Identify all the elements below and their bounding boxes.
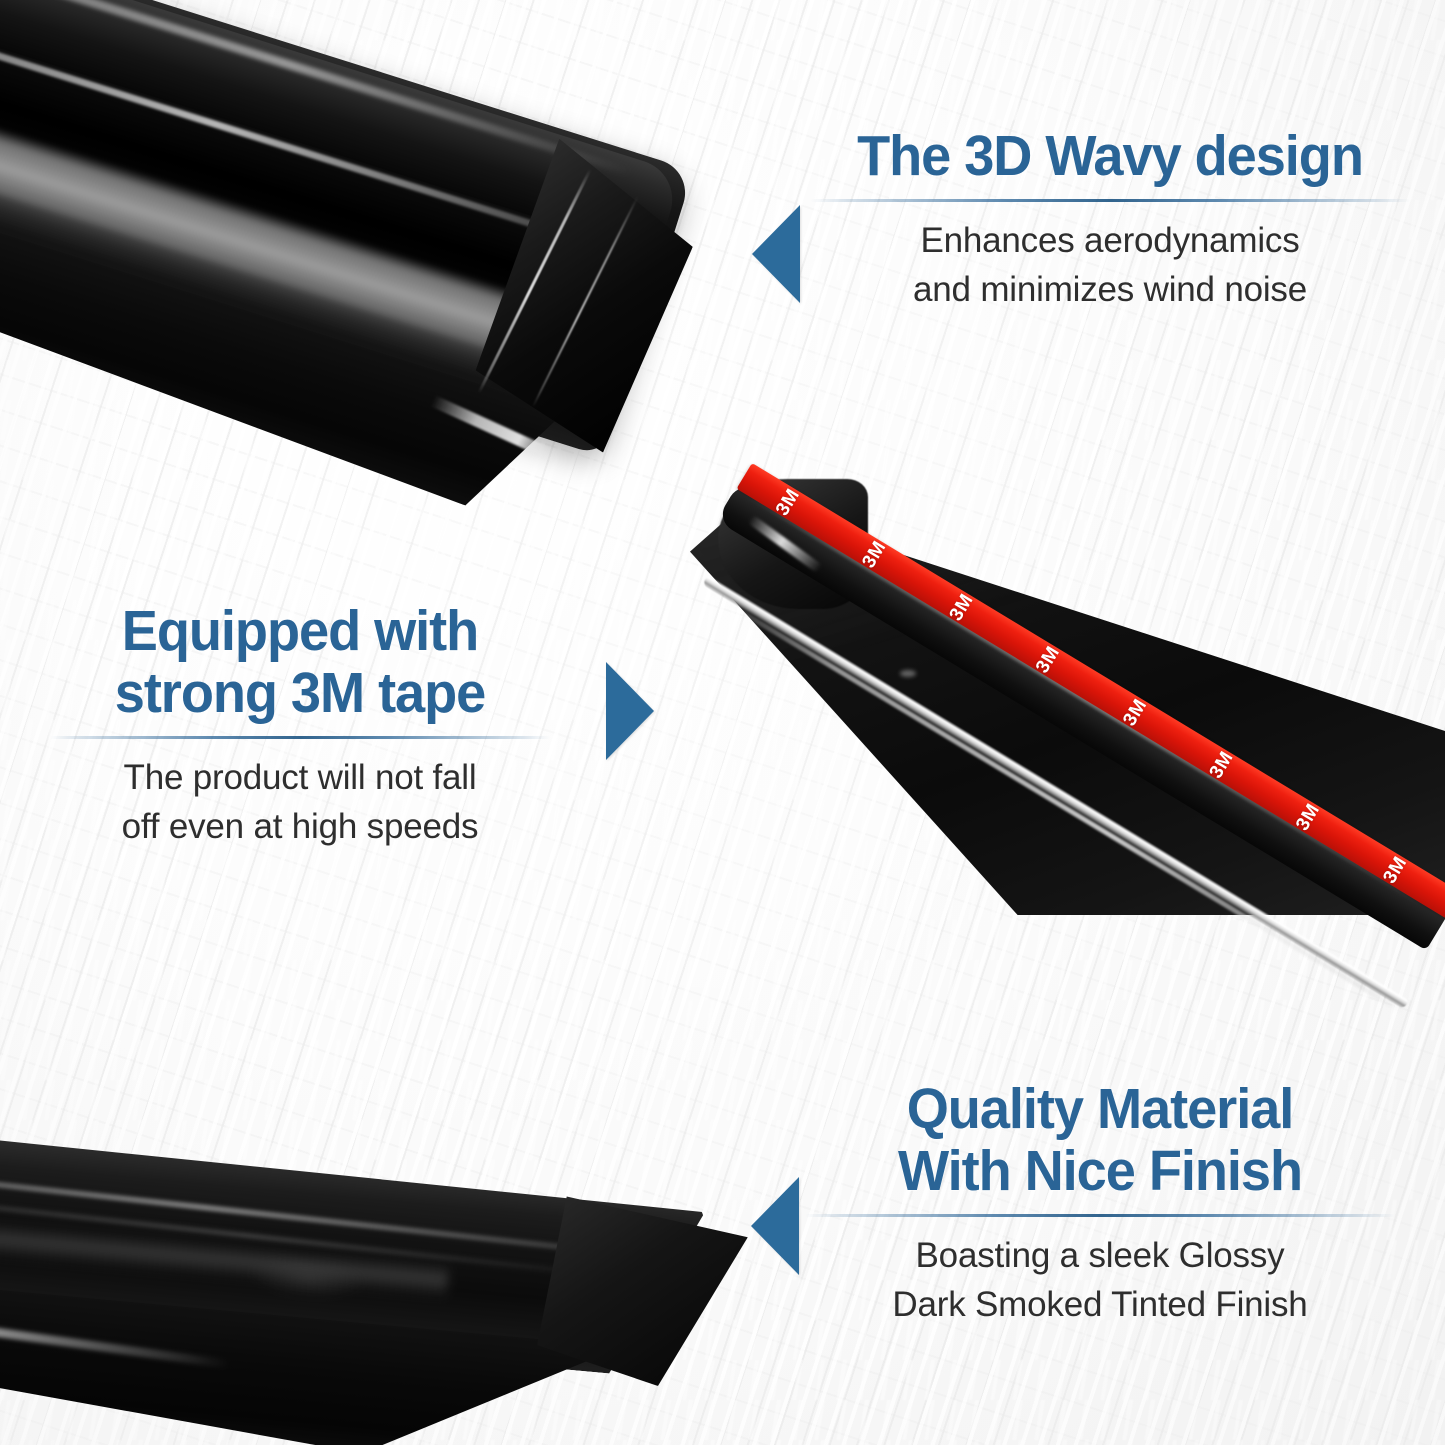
- feature-heading: Equipped with strong 3M tape: [63, 600, 538, 724]
- feature-heading: The 3D Wavy design: [825, 125, 1395, 187]
- feature-block-quality-material: Quality Material With Nice Finish Boasti…: [805, 1078, 1395, 1329]
- feature-divider: [810, 199, 1410, 202]
- feature-body: Enhances aerodynamics and minimizes wind…: [810, 216, 1410, 314]
- feature-heading: Quality Material With Nice Finish: [820, 1078, 1381, 1202]
- infographic-canvas: 3M 3M 3M 3M 3M 3M 3M 3M 3M The 3D Wav: [0, 0, 1445, 1445]
- feature-body: Boasting a sleek Glossy Dark Smoked Tint…: [805, 1231, 1395, 1329]
- feature-divider: [50, 736, 550, 739]
- feature-divider: [805, 1214, 1395, 1217]
- feature-block-wavy-design: The 3D Wavy design Enhances aerodynamics…: [810, 125, 1410, 314]
- product-image-visor-with-3m-tape: 3M 3M 3M 3M 3M 3M 3M 3M 3M: [690, 455, 1445, 925]
- arrow-right-icon: [606, 662, 654, 760]
- arrow-left-icon: [752, 205, 800, 303]
- arrow-left-icon: [751, 1177, 799, 1275]
- feature-body: The product will not fall off even at hi…: [50, 753, 550, 851]
- visor-specular-dot: [900, 670, 916, 677]
- feature-block-3m-tape: Equipped with strong 3M tape The product…: [50, 600, 550, 851]
